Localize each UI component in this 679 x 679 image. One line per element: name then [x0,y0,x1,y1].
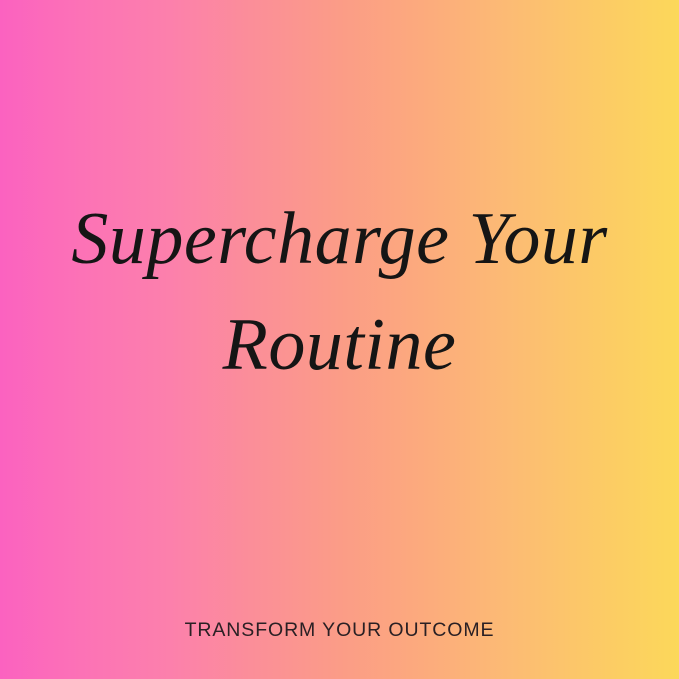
poster-headline: Supercharge Your Routine [0,186,679,398]
poster-tagline: TRANSFORM YOUR OUTCOME [0,618,679,642]
poster-canvas: Supercharge Your Routine TRANSFORM YOUR … [0,0,679,679]
